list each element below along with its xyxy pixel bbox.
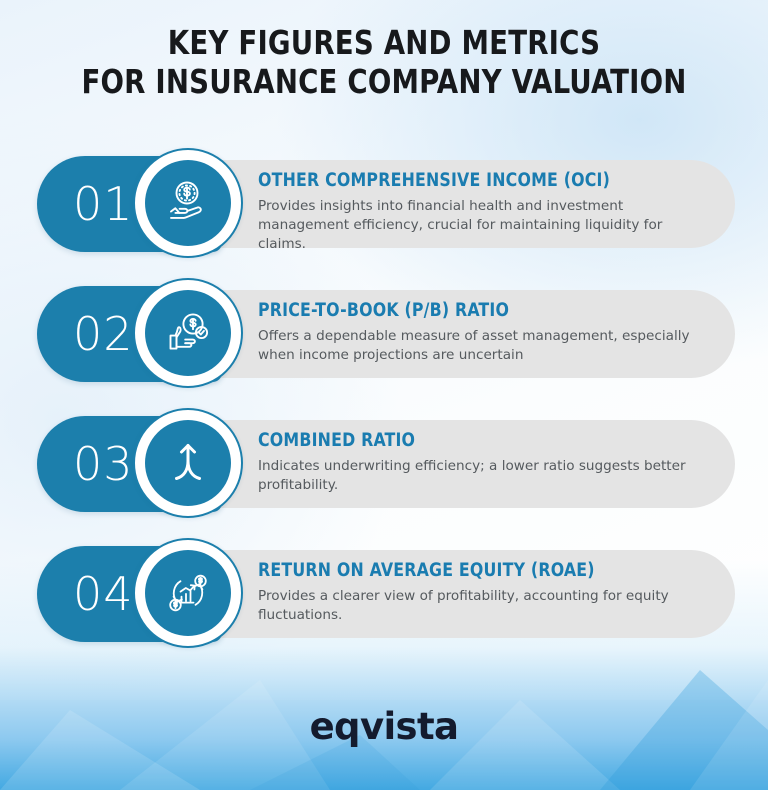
metric-body: Provides a clearer view of profitability… xyxy=(258,587,695,625)
logo-text: eqvista xyxy=(310,705,459,748)
metric-panel: PRICE-TO-BOOK (P/B) RATIO Offers a depen… xyxy=(170,290,735,378)
metric-heading: OTHER COMPREHENSIVE INCOME (OCI) xyxy=(258,171,673,191)
metric-number: 03 xyxy=(73,441,134,487)
icon-disc xyxy=(145,160,231,246)
metric-panel: RETURN ON AVERAGE EQUITY (ROAE) Provides… xyxy=(170,550,735,638)
icon-disc xyxy=(145,550,231,636)
thumbs-up-dollar-check-icon xyxy=(162,307,214,359)
metrics-list: OTHER COMPREHENSIVE INCOME (OCI) Provide… xyxy=(0,148,768,668)
list-item: RETURN ON AVERAGE EQUITY (ROAE) Provides… xyxy=(0,538,768,648)
metric-body: Indicates underwriting efficiency; a low… xyxy=(258,457,695,495)
list-item: PRICE-TO-BOOK (P/B) RATIO Offers a depen… xyxy=(0,278,768,388)
metric-icon-badge xyxy=(133,408,243,518)
title-line-1: KEY FIGURES AND METRICS xyxy=(27,24,741,63)
icon-disc xyxy=(145,290,231,376)
metric-panel: OTHER COMPREHENSIVE INCOME (OCI) Provide… xyxy=(170,160,735,248)
recycle-bar-chart-dollar-icon xyxy=(162,567,214,619)
list-item: COMBINED RATIO Indicates underwriting ef… xyxy=(0,408,768,518)
metric-number: 02 xyxy=(73,311,134,357)
page-title: KEY FIGURES AND METRICS FOR INSURANCE CO… xyxy=(0,24,768,102)
metric-icon-badge xyxy=(133,538,243,648)
metric-body: Provides insights into financial health … xyxy=(258,197,695,253)
hand-holding-dollar-coin-icon xyxy=(162,177,214,229)
metric-heading: PRICE-TO-BOOK (P/B) RATIO xyxy=(258,301,673,321)
metric-icon-badge xyxy=(133,278,243,388)
metric-number: 01 xyxy=(73,181,134,227)
metric-icon-badge xyxy=(133,148,243,258)
brand-logo: eqvista xyxy=(0,705,768,748)
title-line-2: FOR INSURANCE COMPANY VALUATION xyxy=(27,63,741,102)
metric-panel: COMBINED RATIO Indicates underwriting ef… xyxy=(170,420,735,508)
metric-heading: RETURN ON AVERAGE EQUITY (ROAE) xyxy=(258,561,673,581)
metric-heading: COMBINED RATIO xyxy=(258,431,673,451)
merge-arrow-up-icon xyxy=(162,437,214,489)
list-item: OTHER COMPREHENSIVE INCOME (OCI) Provide… xyxy=(0,148,768,258)
metric-number: 04 xyxy=(73,571,134,617)
metric-body: Offers a dependable measure of asset man… xyxy=(258,327,695,365)
icon-disc xyxy=(145,420,231,506)
